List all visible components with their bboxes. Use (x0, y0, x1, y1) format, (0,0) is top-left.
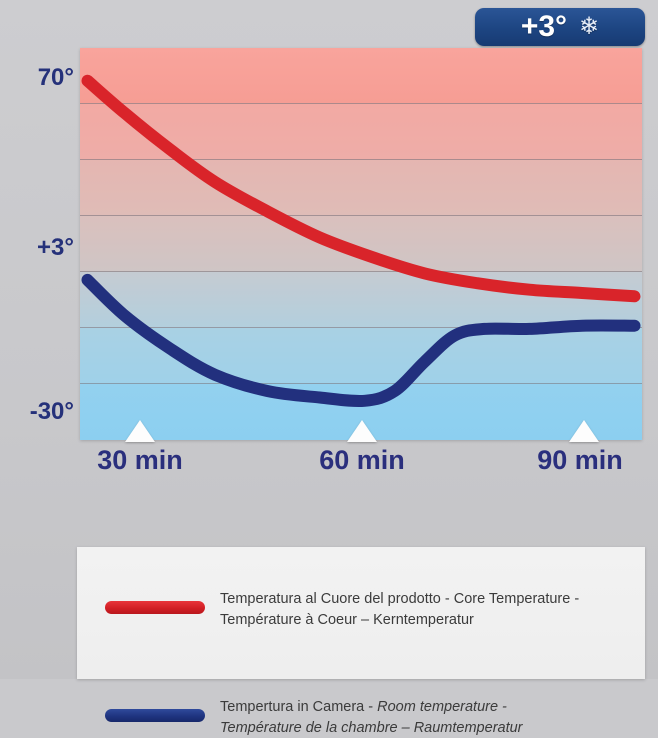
series-lines (80, 48, 642, 440)
legend: Temperatura al Cuore del prodotto - Core… (77, 547, 645, 679)
y-tick-label-m30: -30° (2, 400, 74, 424)
y-tick-label-3: +3° (2, 236, 74, 260)
x-tick-label-90: 90 min (500, 447, 658, 474)
legend-label-core-temperature: Temperatura al Cuore del prodotto - Core… (220, 589, 640, 630)
legend-entry-room-temperature: Tempertura in Camera - Room temperature … (77, 625, 645, 671)
x-tick-label-60: 60 min (282, 447, 442, 474)
legend-swatch-core-temperature (105, 601, 205, 614)
x-tick-marker-90 (569, 420, 599, 442)
badge-temperature-label: +3° (521, 12, 567, 42)
legend-core-line1: Temperatura al Cuore del prodotto - Core… (220, 591, 579, 607)
snowflake-icon: ❄ (579, 15, 599, 39)
series-line-core-temperature-stroke (88, 81, 635, 297)
x-tick-marker-60 (347, 420, 377, 442)
legend-entry-core-temperature: Temperatura al Cuore del prodotto - Core… (77, 571, 645, 617)
x-tick-label-30: 30 min (60, 447, 220, 474)
legend-room-line2-italic: Température de la chambre – Raumtemperat… (220, 720, 523, 736)
legend-room-line1-italic: Room temperature - (377, 699, 507, 715)
temperature-badge: +3° ❄ (475, 8, 645, 46)
plot-area (80, 48, 642, 440)
legend-label-room-temperature: Tempertura in Camera - Room temperature … (220, 697, 640, 738)
y-tick-label-70: 70° (2, 66, 74, 90)
chart-canvas: +3° ❄ 70° +3° -30° 30 min 60 min 90 min (0, 0, 658, 679)
x-tick-marker-30 (125, 420, 155, 442)
y-axis: 70° +3° -30° (0, 0, 74, 679)
legend-room-line1-plain: Tempertura in Camera - (220, 699, 377, 715)
series-line-room-temperature (88, 280, 635, 401)
legend-swatch-room-temperature (105, 709, 205, 722)
